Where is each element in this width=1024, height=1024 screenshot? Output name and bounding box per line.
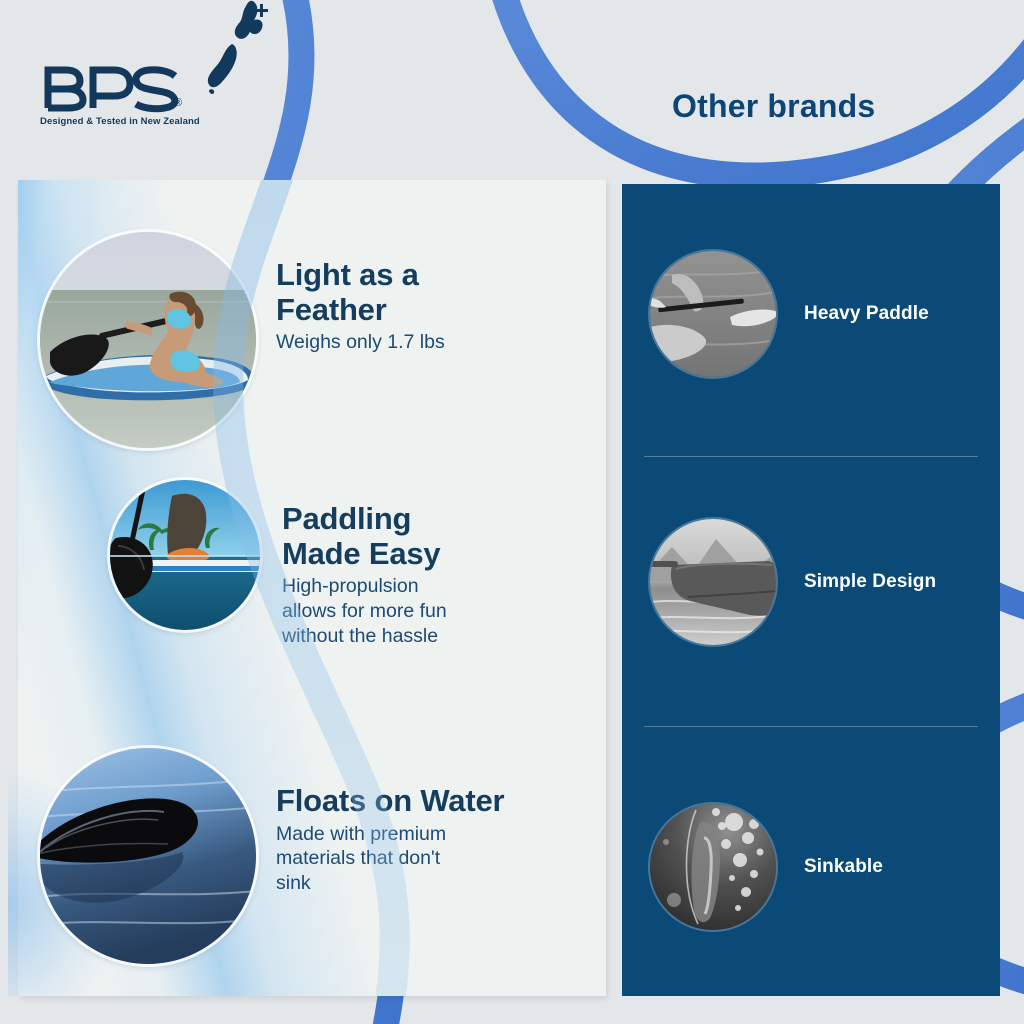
bps-logo[interactable]: ® Designed & Tested in New Zealand bbox=[38, 62, 200, 127]
feature-row-light-as-a-feather: Light as a Feather Weighs only 1.7 lbs bbox=[40, 232, 445, 448]
heavy-paddle-photo bbox=[650, 251, 776, 377]
simple-paddle-photo bbox=[650, 519, 776, 645]
competitor-label: Simple Design bbox=[804, 571, 936, 593]
brand-tagline: Designed & Tested in New Zealand bbox=[40, 116, 200, 127]
bps-wordmark-icon: ® bbox=[38, 62, 186, 114]
feature-image-light-as-a-feather bbox=[40, 232, 256, 448]
paddleboarder-photo bbox=[40, 232, 256, 448]
feature-row-paddling-made-easy: Paddling Made Easy High-propulsion allow… bbox=[110, 480, 447, 648]
competitor-label: Heavy Paddle bbox=[804, 303, 929, 325]
comparison-infographic: ® Designed & Tested in New Zealand Other… bbox=[0, 0, 1024, 1024]
feature-row-floats-on-water: Floats on Water Made with premium materi… bbox=[40, 748, 504, 964]
competitor-row-sinkable: Sinkable bbox=[650, 804, 883, 930]
feature-subtitle: High-propulsion allows for more fun with… bbox=[282, 574, 447, 648]
competitor-image-heavy-paddle bbox=[650, 251, 776, 377]
underwater-paddle-photo bbox=[110, 480, 260, 630]
other-brands-title: Other brands bbox=[672, 88, 875, 125]
feature-image-paddling-made-easy bbox=[110, 480, 260, 630]
registered-mark: ® bbox=[174, 97, 182, 109]
competitor-row-heavy-paddle: Heavy Paddle bbox=[650, 251, 929, 377]
feature-title: Light as a Feather bbox=[276, 258, 445, 327]
panel-divider bbox=[644, 726, 978, 727]
competitor-image-simple-design bbox=[650, 519, 776, 645]
feature-title: Floats on Water bbox=[276, 784, 504, 819]
competitor-label: Sinkable bbox=[804, 856, 883, 878]
floating-paddle-photo bbox=[40, 748, 256, 964]
new-zealand-map-icon bbox=[196, 0, 274, 94]
feature-image-floats-on-water bbox=[40, 748, 256, 964]
competitor-image-sinkable bbox=[650, 804, 776, 930]
panel-divider bbox=[644, 456, 978, 457]
feature-subtitle: Weighs only 1.7 lbs bbox=[276, 330, 445, 355]
feature-subtitle: Made with premium materials that don't s… bbox=[276, 822, 504, 896]
competitor-row-simple-design: Simple Design bbox=[650, 519, 936, 645]
feature-title: Paddling Made Easy bbox=[282, 502, 447, 571]
sinking-paddle-photo bbox=[650, 804, 776, 930]
